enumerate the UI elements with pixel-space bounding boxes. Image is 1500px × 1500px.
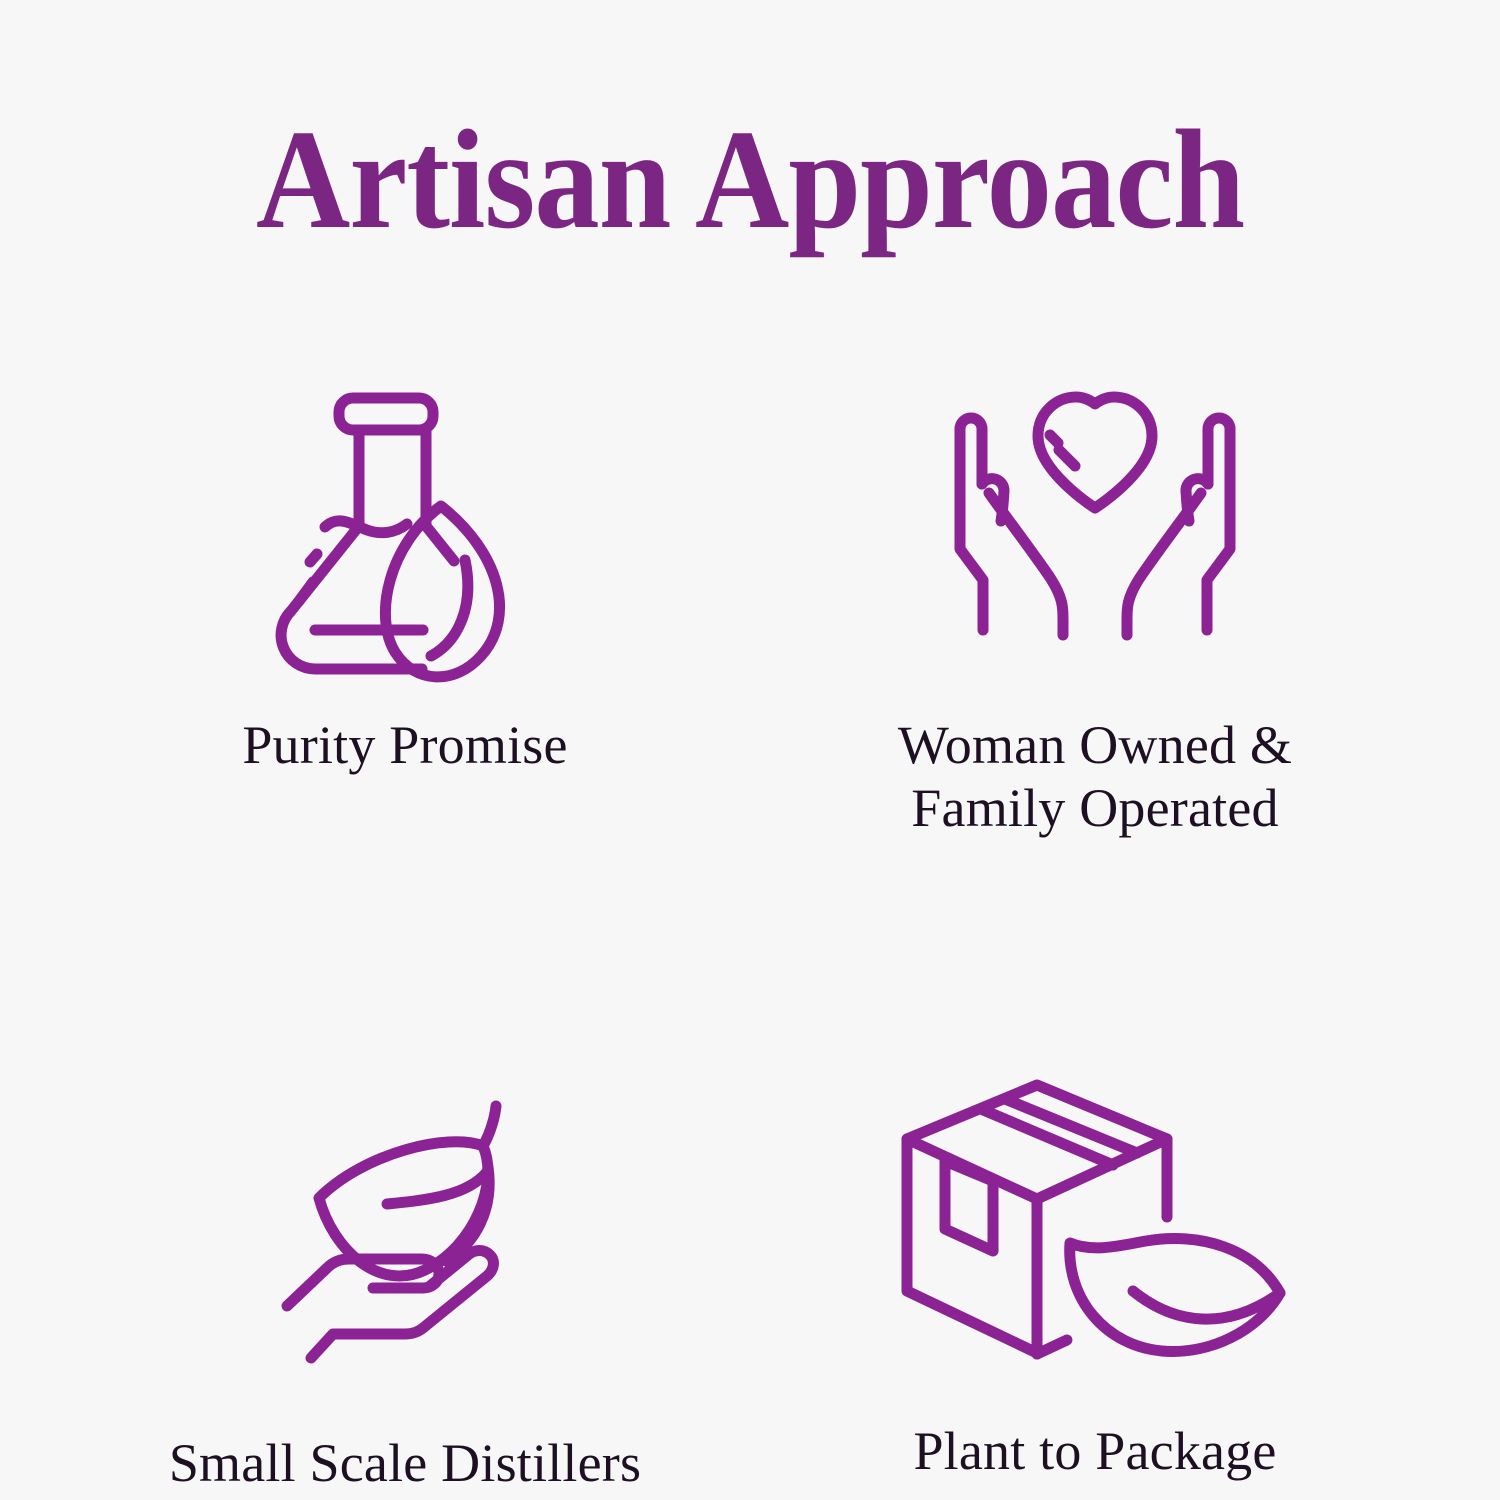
feature-label: Purity Promise xyxy=(242,714,567,777)
feature-label: Small Scale Distillers xyxy=(169,1432,641,1495)
feature-label: Plant to Package xyxy=(913,1420,1276,1483)
feature-label: Woman Owned & Family Operated xyxy=(898,714,1292,840)
feature-grid: Purity Promise xyxy=(60,352,1440,1412)
artisan-approach-infographic: Artisan Approach xyxy=(0,0,1500,1500)
box-leaf-icon xyxy=(885,1064,1305,1364)
page-title: Artisan Approach xyxy=(256,108,1244,250)
leaf-in-hand-icon xyxy=(275,1076,535,1376)
hands-holding-heart-icon xyxy=(930,372,1260,672)
feature-item-plant-to-package: Plant to Package xyxy=(750,840,1440,1495)
feature-item-small-scale-distillers: Small Scale Distillers xyxy=(60,840,750,1495)
feature-item-woman-owned: Woman Owned & Family Operated xyxy=(750,352,1440,840)
page-title-container: Artisan Approach xyxy=(0,108,1500,250)
flask-leaf-icon xyxy=(269,368,541,668)
feature-item-purity-promise: Purity Promise xyxy=(60,352,750,840)
